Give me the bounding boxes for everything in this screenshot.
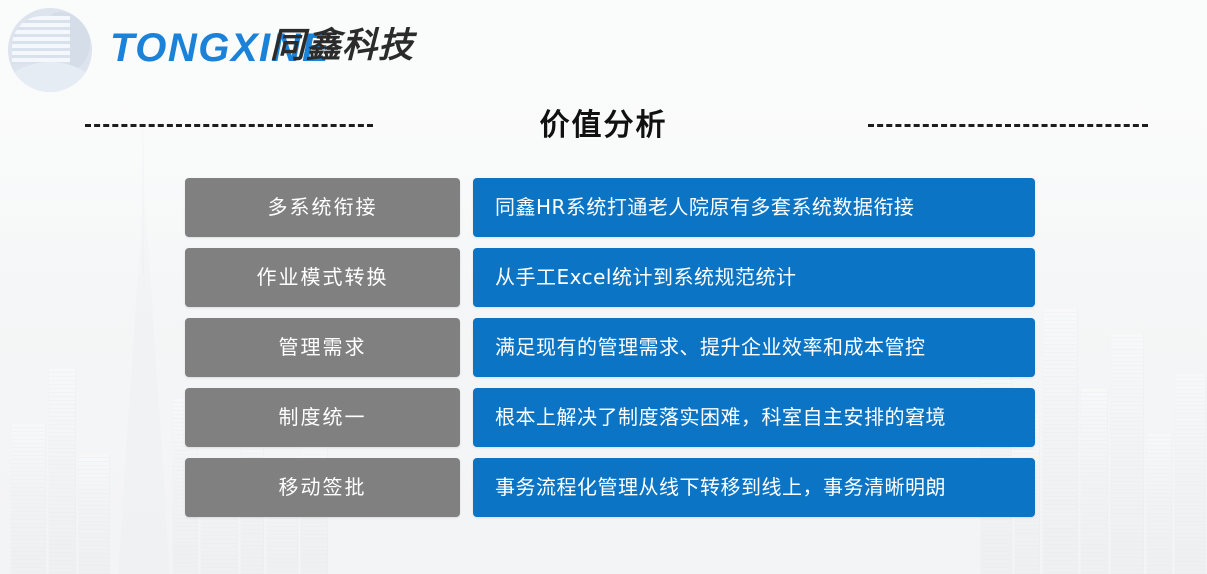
row-label-box: 制度统一	[185, 388, 460, 447]
slide-canvas: TONGXINE 同鑫科技 价值分析 多系统衔接 同鑫HR系统打通老人院原有多套…	[0, 0, 1207, 574]
table-row: 多系统衔接 同鑫HR系统打通老人院原有多套系统数据衔接	[0, 178, 1207, 237]
row-desc-box: 根本上解决了制度落实困难，科室自主安排的窘境	[473, 388, 1035, 447]
table-row: 作业模式转换 从手工Excel统计到系统规范统计	[0, 248, 1207, 307]
row-desc-box: 事务流程化管理从线下转移到线上，事务清晰明朗	[473, 458, 1035, 517]
row-desc-box: 从手工Excel统计到系统规范统计	[473, 248, 1035, 307]
title-rule-right	[868, 124, 1148, 127]
tongxine-circle-emblem-icon	[8, 8, 92, 92]
row-desc-box: 满足现有的管理需求、提升企业效率和成本管控	[473, 318, 1035, 377]
title-row: 价值分析	[0, 100, 1207, 152]
table-row: 制度统一 根本上解决了制度落实困难，科室自主安排的窘境	[0, 388, 1207, 447]
row-label-box: 多系统衔接	[185, 178, 460, 237]
header: TONGXINE 同鑫科技	[0, 0, 1207, 100]
emblem-stripes	[12, 16, 70, 64]
value-analysis-table: 多系统衔接 同鑫HR系统打通老人院原有多套系统数据衔接 作业模式转换 从手工Ex…	[0, 178, 1207, 528]
table-row: 移动签批 事务流程化管理从线下转移到线上，事务清晰明朗	[0, 458, 1207, 517]
row-label-box: 作业模式转换	[185, 248, 460, 307]
row-label-box: 移动签批	[185, 458, 460, 517]
brand-name-chinese: 同鑫科技	[270, 29, 414, 64]
table-row: 管理需求 满足现有的管理需求、提升企业效率和成本管控	[0, 318, 1207, 377]
row-label-box: 管理需求	[185, 318, 460, 377]
row-desc-box: 同鑫HR系统打通老人院原有多套系统数据衔接	[473, 178, 1035, 237]
